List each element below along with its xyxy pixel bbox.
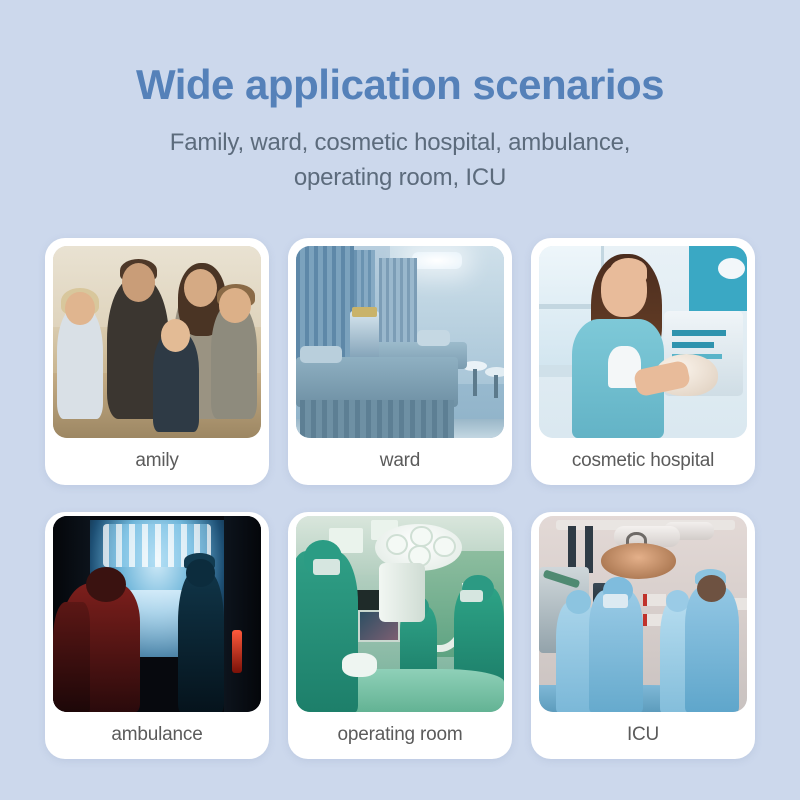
scenario-card-ward[interactable]: ward — [288, 238, 512, 485]
scenario-card-operating-room[interactable]: operating room — [288, 512, 512, 759]
scenario-card-cosmetic-hospital[interactable]: cosmetic hospital — [531, 238, 755, 485]
subtitle-line-1: Family, ward, cosmetic hospital, ambulan… — [90, 126, 710, 161]
scenario-label-family: amily — [45, 438, 269, 485]
icu-scene-art — [539, 516, 747, 712]
scenario-card-grid: amily ward — [45, 238, 755, 759]
scenario-label-operating-room: operating room — [288, 712, 512, 759]
family-photo — [53, 246, 261, 438]
cosmetic-scene-art — [539, 246, 747, 438]
scenario-card-ambulance[interactable]: ambulance — [45, 512, 269, 759]
family-scene-art — [53, 246, 261, 438]
scenario-label-icu: ICU — [531, 712, 755, 759]
ward-photo — [296, 246, 504, 438]
scenario-card-icu[interactable]: ICU — [531, 512, 755, 759]
operating-room-photo — [296, 516, 504, 712]
scenario-card-family[interactable]: amily — [45, 238, 269, 485]
scenario-label-ward: ward — [288, 438, 512, 485]
page-subtitle: Family, ward, cosmetic hospital, ambulan… — [90, 126, 710, 196]
ambulance-scene-art — [53, 516, 261, 712]
ambulance-photo — [53, 516, 261, 712]
promo-page: Wide application scenarios Family, ward,… — [0, 0, 800, 800]
operating-room-scene-art — [296, 516, 504, 712]
ward-scene-art — [296, 246, 504, 438]
scenario-label-ambulance: ambulance — [45, 712, 269, 759]
page-title: Wide application scenarios — [0, 62, 800, 108]
scenario-label-cosmetic-hospital: cosmetic hospital — [531, 438, 755, 485]
subtitle-line-2: operating room, ICU — [90, 161, 710, 196]
page-header: Wide application scenarios Family, ward,… — [0, 0, 800, 196]
icu-photo — [539, 516, 747, 712]
cosmetic-hospital-photo — [539, 246, 747, 438]
